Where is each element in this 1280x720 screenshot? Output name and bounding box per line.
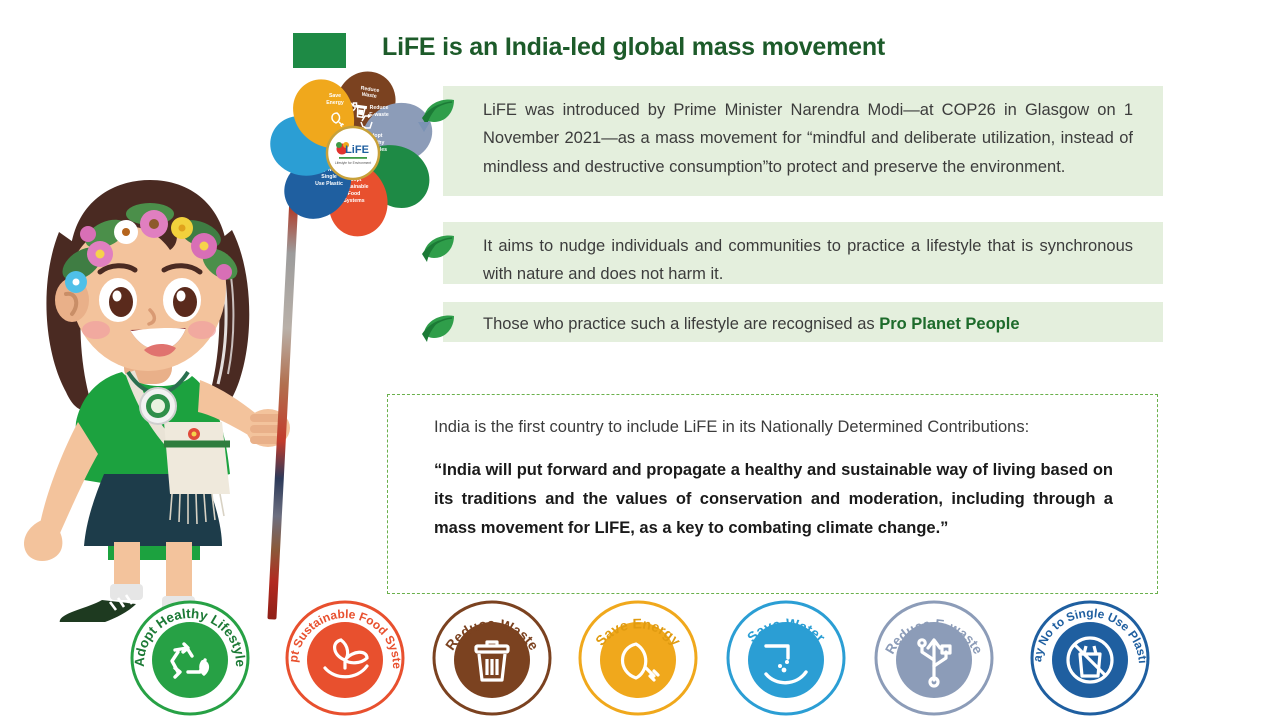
ndc-intro-text: India is the first country to include Li…	[434, 413, 1113, 442]
pro-planet-people-highlight: Pro Planet People	[879, 315, 1019, 333]
badge-say-no-single-use-plastic[interactable]: Say No to Single Use Plastic	[1030, 598, 1150, 718]
badge-adopt-sustainable-food-systems[interactable]: Adopt Sustainable Food Systems	[285, 598, 405, 718]
svg-text:Reduce: Reduce	[370, 105, 389, 111]
badge-adopt-healthy-lifestyle[interactable]: Adopt Healthy Lifestyle	[130, 598, 250, 718]
bullet-text-3: Those who practice such a lifestyle are …	[483, 310, 1133, 338]
svg-text:Food: Food	[348, 191, 361, 197]
slide-canvas: LiFE is an India-led global mass movemen…	[0, 0, 1280, 720]
svg-text:Use Plastic: Use Plastic	[315, 181, 343, 187]
badge-save-water[interactable]: Save Water	[726, 598, 846, 718]
bullet-text-1: LiFE was introduced by Prime Minister Na…	[483, 96, 1133, 181]
bullet-box-2: It aims to nudge individuals and communi…	[443, 222, 1163, 284]
bullet-text-2: It aims to nudge individuals and communi…	[483, 232, 1133, 289]
svg-text:Systems: Systems	[343, 198, 364, 204]
svg-text:Single: Single	[321, 174, 337, 180]
life-logo: LiFE Lifestyle for Environment	[335, 142, 371, 165]
ndc-quote-text: “India will put forward and propagate a …	[434, 456, 1113, 543]
svg-text:LiFE: LiFE	[345, 144, 369, 156]
badge-save-energy[interactable]: Save Energy	[578, 598, 698, 718]
bullet-box-3: Those who practice such a lifestyle are …	[443, 302, 1163, 342]
svg-text:E-waste: E-waste	[369, 112, 389, 118]
bullet-text-3-prefix: Those who practice such a lifestyle are …	[483, 315, 879, 333]
svg-text:Energy: Energy	[326, 100, 344, 106]
svg-text:Save: Save	[329, 93, 341, 99]
ndc-callout-box: India is the first country to include Li…	[387, 394, 1158, 594]
badge-reduce-ewaste[interactable]: Reduce E-waste	[874, 598, 994, 718]
bullet-box-1: LiFE was introduced by Prime Minister Na…	[443, 86, 1163, 196]
leaf-icon	[418, 94, 464, 134]
life-pinwheel: Reduce Waste Reduce E-waste	[268, 58, 438, 243]
svg-text:Lifestyle for Environment: Lifestyle for Environment	[335, 161, 371, 165]
page-title: LiFE is an India-led global mass movemen…	[382, 33, 1002, 62]
leaf-icon	[418, 230, 464, 270]
mission-badges-row: Adopt Healthy Lifestyle Adopt Sustainabl…	[0, 598, 1280, 720]
leaf-icon	[418, 310, 464, 350]
badge-reduce-waste[interactable]: Reduce Waste	[432, 598, 552, 718]
girl-mascot	[4, 122, 294, 622]
